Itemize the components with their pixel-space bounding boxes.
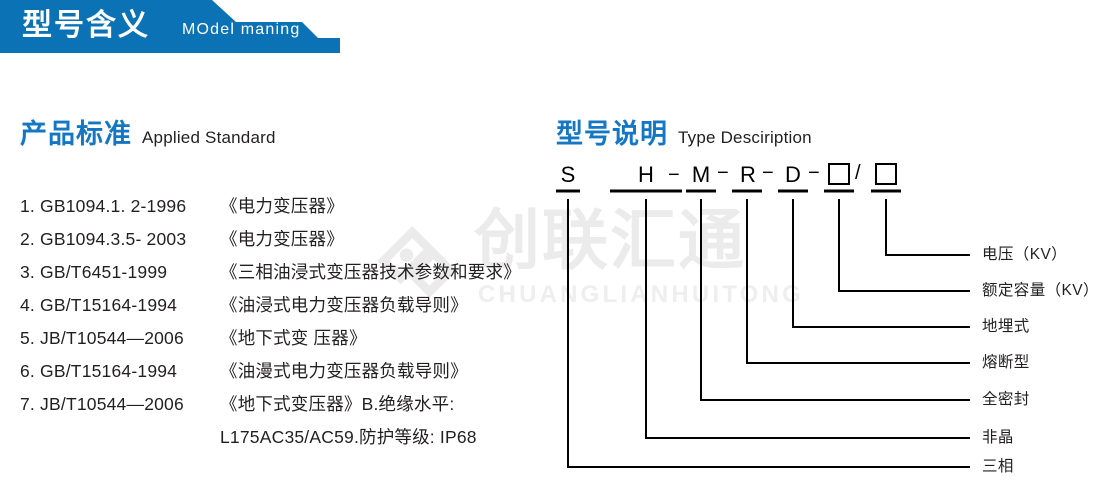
list-item: 2. GB1094.3.5- 2003《电力变压器》 <box>20 223 540 256</box>
type-description-heading-chinese: 型号说明 <box>556 119 668 149</box>
leader-label-buried-type: 地埋式 <box>982 318 1030 336</box>
banner-title: 型号含义 <box>22 6 150 46</box>
leader-label-voltage: 电压（KV） <box>982 246 1067 264</box>
leader-label-amorphous: 非晶 <box>982 429 1014 447</box>
list-item: 3. GB/T6451-1999《三相油浸式变压器技术参数和要求》 <box>20 256 540 289</box>
standard-code: 1. GB1094.1. 2-1996 <box>20 190 220 223</box>
standards-list: 1. GB1094.1. 2-1996《电力变压器》 2. GB1094.3.5… <box>20 190 540 454</box>
standard-name: 《三相油浸式变压器技术参数和要求》 <box>220 256 521 289</box>
standard-code: 6. GB/T15164-1994 <box>20 355 220 388</box>
standard-code: 2. GB1094.3.5- 2003 <box>20 223 220 256</box>
list-item: 7. JB/T10544—2006《地下式变压器》B.绝缘水平: <box>20 388 540 421</box>
standards-heading-chinese: 产品标准 <box>20 119 132 149</box>
list-item: 1. GB1094.1. 2-1996《电力变压器》 <box>20 190 540 223</box>
leader-label-three-phase: 三相 <box>982 458 1014 476</box>
standard-code: 7. JB/T10544—2006 <box>20 388 220 421</box>
leader-label-rated-capacity: 额定容量（KV） <box>982 282 1099 300</box>
leader-label-fully-sealed: 全密封 <box>982 391 1030 409</box>
standard-name: 《电力变压器》 <box>220 190 344 223</box>
banner-subtitle: MOdel maning <box>182 20 300 40</box>
list-item: 4. GB/T15164-1994《油浸式电力变压器负载导则》 <box>20 289 540 322</box>
type-description-heading-english: Type Desciription <box>678 128 812 147</box>
type-description-section-heading: 型号说明Type Desciription <box>556 112 812 151</box>
leader-label-fuse-type: 熔断型 <box>982 354 1030 372</box>
standard-name: 《油浸式电力变压器负载导则》 <box>220 289 468 322</box>
header-banner: 型号含义 MOdel maning <box>0 0 340 53</box>
standard-name: 《地下式变 压器》 <box>220 322 367 355</box>
standards-heading-english: Applied Standard <box>142 128 276 147</box>
standard-name: 《油漫式电力变压器负载导则》 <box>220 355 468 388</box>
standard-name: 《地下式变压器》B.绝缘水平: <box>220 388 454 421</box>
list-item: 5. JB/T10544—2006《地下式变 压器》 <box>20 322 540 355</box>
standard-code: 4. GB/T15164-1994 <box>20 289 220 322</box>
standard-code: 3. GB/T6451-1999 <box>20 256 220 289</box>
list-item: 6. GB/T15164-1994《油漫式电力变压器负载导则》 <box>20 355 540 388</box>
standards-section-heading: 产品标准Applied Standard <box>20 112 276 151</box>
standard-continuation-line: L175AC35/AC59.防护等级: IP68 <box>20 421 540 454</box>
standard-name: 《电力变压器》 <box>220 223 344 256</box>
model-code-diagram: S H − M − R − D − / <box>550 155 1095 485</box>
standard-code: 5. JB/T10544—2006 <box>20 322 220 355</box>
